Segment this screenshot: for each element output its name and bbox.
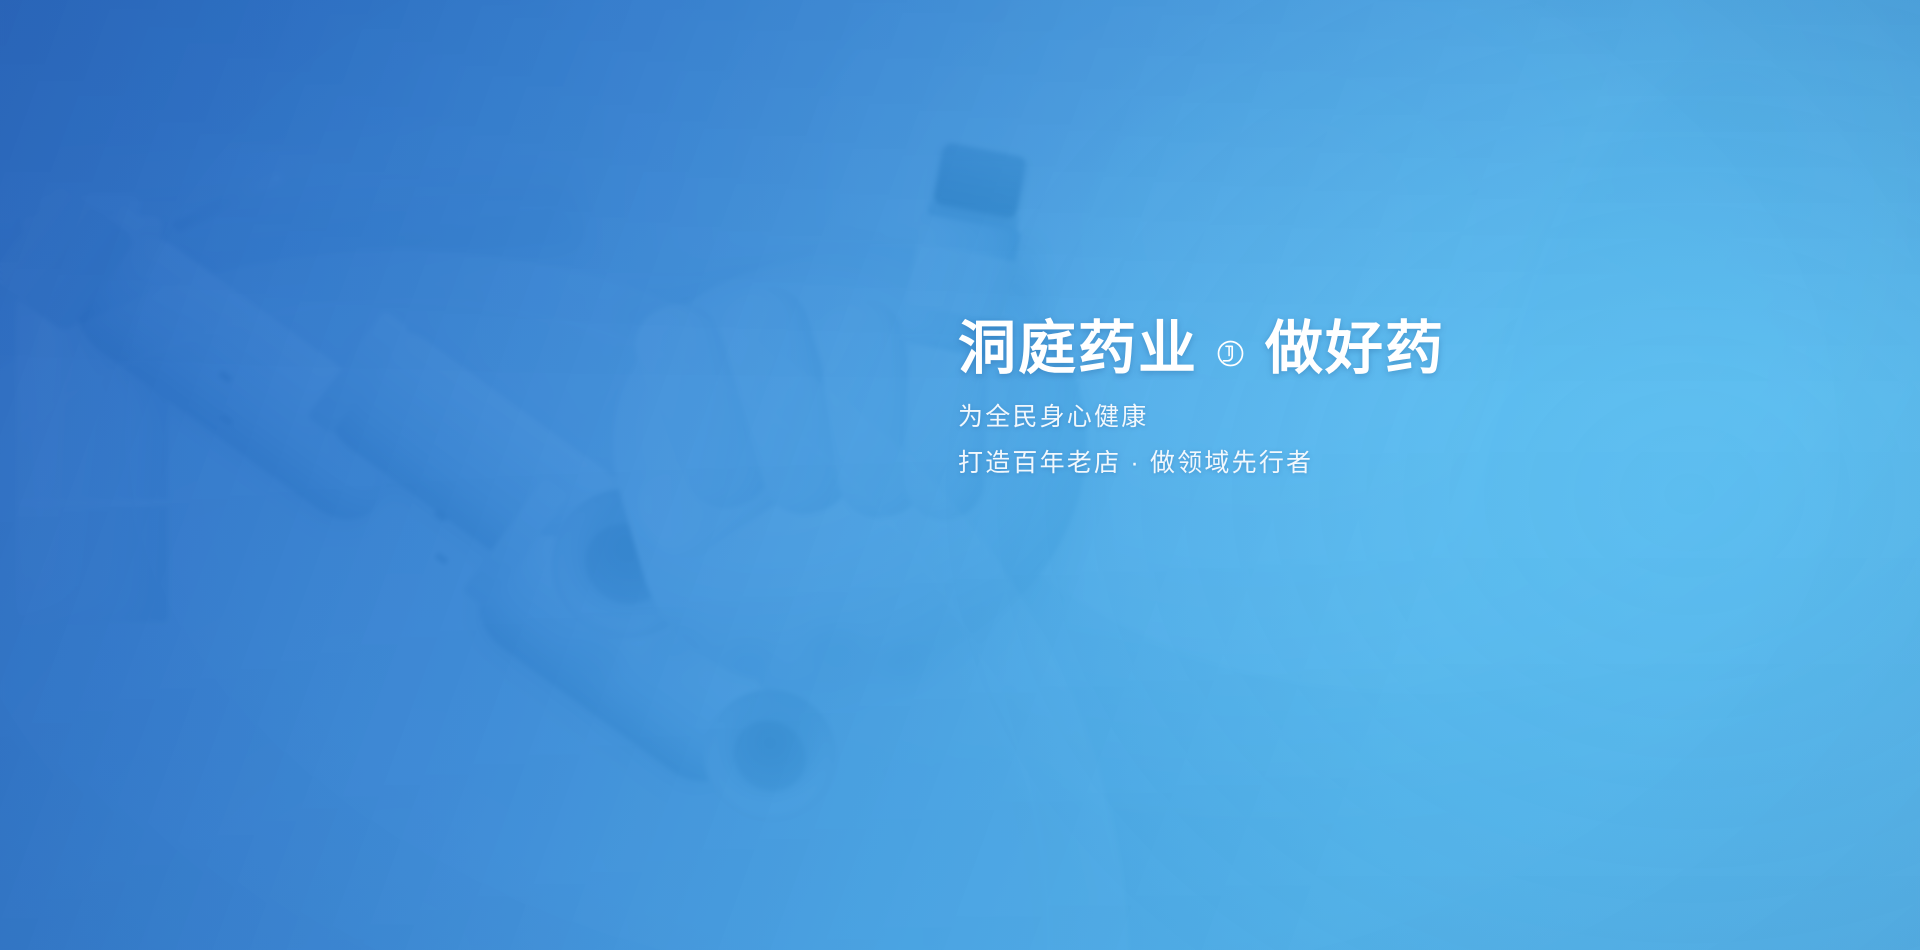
hero-title-primary: 洞庭药业	[958, 318, 1198, 381]
hero-tagline-line-2: 打造百年老店 · 做领域先行者	[958, 444, 1718, 483]
hero-banner: 洞庭药业 做好药 为全民身心健康 打造百年老店 · 做领域先行者	[0, 0, 1920, 950]
dongting-circle-logo-icon	[1217, 340, 1244, 367]
hero-title: 洞庭药业 做好药	[958, 318, 1718, 381]
hero-tagline-line-1: 为全民身心健康	[958, 398, 1718, 437]
hero-text-block: 洞庭药业 做好药 为全民身心健康 打造百年老店 · 做领域先行者	[958, 318, 1718, 483]
hero-title-secondary: 做好药	[1265, 318, 1445, 381]
hero-tagline: 为全民身心健康 打造百年老店 · 做领域先行者	[958, 398, 1718, 484]
